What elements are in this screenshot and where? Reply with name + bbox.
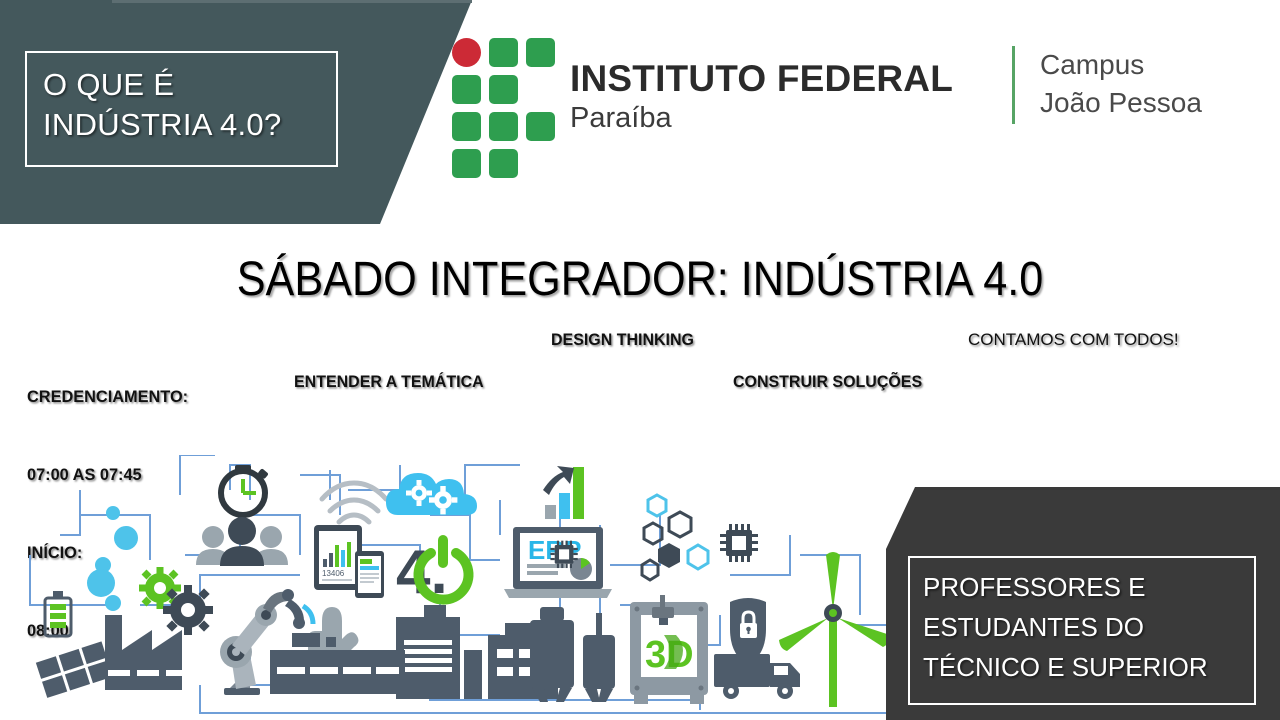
smartphone-icon [355, 551, 384, 598]
audience-line-1: PROFESSORES E [923, 567, 1250, 607]
logo-divider [1012, 46, 1015, 124]
truck-icon [714, 654, 800, 699]
label-entender-tematica: ENTENDER A TEMÁTICA [294, 372, 484, 392]
battery-icon [45, 591, 71, 636]
label-design-thinking: DESIGN THINKING [551, 330, 694, 350]
audience-box: PROFESSORES E ESTUDANTES DO TÉCNICO E SU… [908, 556, 1256, 705]
solar-panel-icon [36, 641, 113, 698]
schedule-line-1: CREDENCIAMENTO: [27, 384, 188, 410]
growth-chart-icon [543, 466, 584, 519]
ifpb-grid-logo-icon [452, 38, 557, 180]
label-contamos-com-todos: CONTAMOS COM TODOS! [968, 330, 1179, 350]
stopwatch-icon [221, 465, 269, 515]
institute-name: INSTITUTO FEDERAL [570, 58, 953, 100]
header-top-accent-line [112, 0, 472, 3]
label-construir-solucoes: CONSTRUIR SOLUÇÕES [733, 372, 922, 392]
tablet-chart-icon: 13406 [314, 525, 362, 590]
audience-line-3: TÉCNICO E SUPERIOR [923, 647, 1250, 687]
data-bubbles-icon [87, 506, 138, 611]
presentation-slide: O QUE É INDÚSTRIA 4.0? INSTITUTO FEDERAL… [0, 0, 1280, 720]
campus-name: João Pessoa [1040, 84, 1202, 122]
question-title-box: O QUE É INDÚSTRIA 4.0? [25, 51, 338, 167]
storage-tank-icon [530, 607, 615, 702]
institute-state: Paraíba [570, 100, 953, 136]
people-group-icon [196, 517, 288, 566]
3d-printer-icon: 3D [630, 595, 708, 704]
campus-label: Campus [1040, 46, 1202, 84]
tablet-value-text: 13406 [322, 569, 345, 578]
audience-line-2: ESTUDANTES DO [923, 607, 1250, 647]
page-title: SÁBADO INTEGRADOR: INDÚSTRIA 4.0 [64, 252, 1216, 307]
campus-wordmark: Campus João Pessoa [1040, 46, 1202, 122]
ifpb-wordmark: INSTITUTO FEDERAL Paraíba [570, 58, 953, 136]
question-line-2: INDÚSTRIA 4.0? [43, 105, 330, 145]
gears-icon [139, 567, 213, 635]
hexagon-network-icon [642, 495, 708, 580]
question-line-1: O QUE É [43, 65, 330, 105]
